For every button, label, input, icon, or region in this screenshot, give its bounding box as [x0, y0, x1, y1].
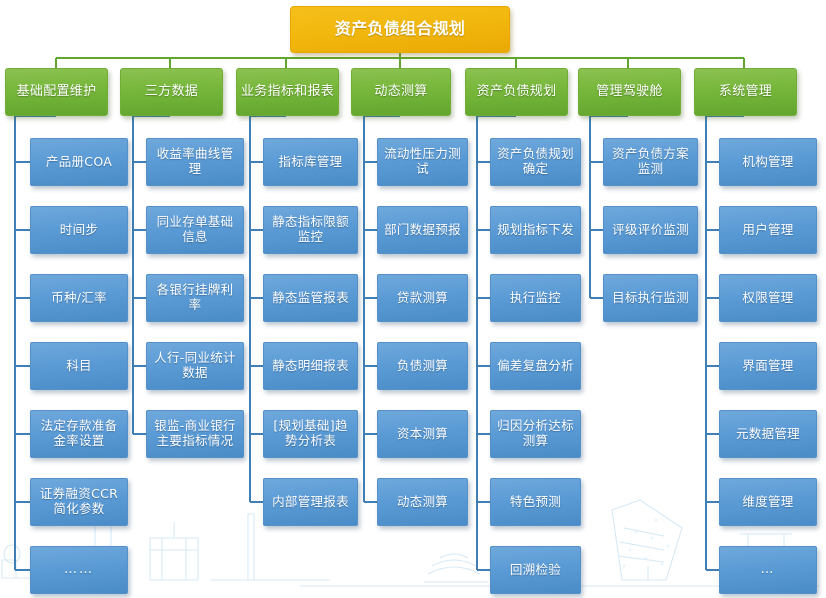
node-col-6-item-2[interactable]: 评级评价监测: [603, 206, 698, 254]
node-col-1-item-6[interactable]: 证券融资CCR简化参数: [30, 478, 128, 526]
node-col-7-item-4[interactable]: 界面管理: [719, 342, 817, 390]
column-header-col-7[interactable]: 系统管理: [694, 68, 797, 116]
node-col-7-item-3[interactable]: 权限管理: [719, 274, 817, 322]
column-header-col-3[interactable]: 业务指标和报表: [236, 68, 339, 116]
node-col-1-item-5[interactable]: 法定存款准备金率设置: [30, 410, 128, 458]
node-col-3-item-4[interactable]: 静态明细报表: [263, 342, 358, 390]
column-header-col-5[interactable]: 资产负债规划: [465, 68, 568, 116]
node-col-7-item-6[interactable]: 维度管理: [719, 478, 817, 526]
column-header-col-1[interactable]: 基础配置维护: [5, 68, 108, 116]
node-col-7-item-2[interactable]: 用户管理: [719, 206, 817, 254]
node-col-2-item-2[interactable]: 同业存单基础信息: [146, 206, 244, 254]
node-col-2-item-1[interactable]: 收益率曲线管理: [146, 138, 244, 186]
node-col-4-item-3[interactable]: 贷款测算: [377, 274, 468, 322]
node-col-3-item-3[interactable]: 静态监管报表: [263, 274, 358, 322]
column-header-col-4[interactable]: 动态测算: [351, 68, 451, 116]
node-col-4-item-4[interactable]: 负债测算: [377, 342, 468, 390]
node-col-5-item-3[interactable]: 执行监控: [490, 274, 581, 322]
root-node-title[interactable]: 资产负债组合规划: [290, 6, 510, 53]
node-col-7-item-1[interactable]: 机构管理: [719, 138, 817, 186]
node-col-6-item-1[interactable]: 资产负债方案监测: [603, 138, 698, 186]
column-header-col-6[interactable]: 管理驾驶舱: [578, 68, 681, 116]
node-col-1-item-3[interactable]: 币种/汇率: [30, 274, 128, 322]
node-col-1-item-4[interactable]: 科目: [30, 342, 128, 390]
node-col-4-item-2[interactable]: 部门数据预报: [377, 206, 468, 254]
node-col-4-item-6[interactable]: 动态测算: [377, 478, 468, 526]
node-col-3-item-1[interactable]: 指标库管理: [263, 138, 358, 186]
column-header-col-2[interactable]: 三方数据: [120, 68, 223, 116]
node-col-5-item-5[interactable]: 归因分析达标测算: [490, 410, 581, 458]
node-col-7-item-5[interactable]: 元数据管理: [719, 410, 817, 458]
node-col-5-item-6[interactable]: 特色预测: [490, 478, 581, 526]
node-col-7-item-7[interactable]: …: [719, 546, 817, 594]
node-col-5-item-4[interactable]: 偏差复盘分析: [490, 342, 581, 390]
node-col-2-item-3[interactable]: 各银行挂牌利率: [146, 274, 244, 322]
node-col-1-item-1[interactable]: 产品册COA: [30, 138, 128, 186]
node-col-4-item-1[interactable]: 流动性压力测试: [377, 138, 468, 186]
node-col-2-item-5[interactable]: 银监-商业银行主要指标情况: [146, 410, 244, 458]
node-col-6-item-3[interactable]: 目标执行监测: [603, 274, 698, 322]
node-col-5-item-1[interactable]: 资产负债规划确定: [490, 138, 581, 186]
node-col-3-item-6[interactable]: 内部管理报表: [263, 478, 358, 526]
node-col-3-item-5[interactable]: [规划基础]趋势分析表: [263, 410, 358, 458]
node-col-2-item-4[interactable]: 人行-同业统计数据: [146, 342, 244, 390]
node-col-1-item-7[interactable]: ……: [30, 546, 128, 594]
node-col-4-item-5[interactable]: 资本测算: [377, 410, 468, 458]
org-chart-canvas: 资产负债组合规划 基础配置维护 三方数据 业务指标和报表 动态测算 资产负债规划…: [0, 0, 826, 598]
node-col-5-item-7[interactable]: 回溯检验: [490, 546, 581, 594]
node-col-1-item-2[interactable]: 时间步: [30, 206, 128, 254]
node-col-3-item-2[interactable]: 静态指标限额监控: [263, 206, 358, 254]
node-col-5-item-2[interactable]: 规划指标下发: [490, 206, 581, 254]
